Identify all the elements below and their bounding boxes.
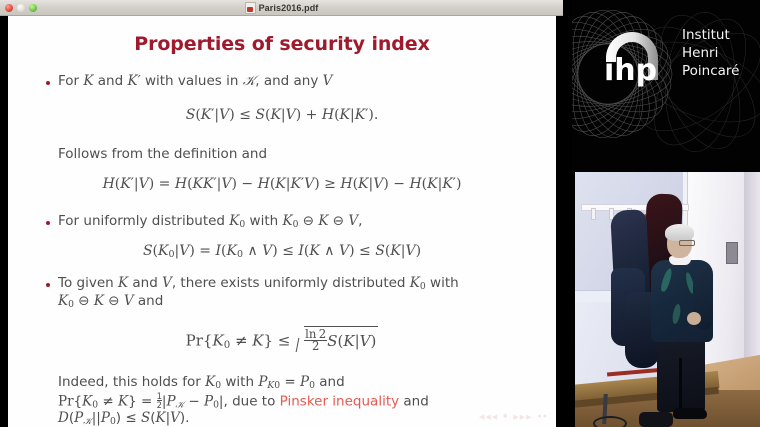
ihp-wordmark-text: ihp: [604, 53, 657, 88]
window-title: Paris2016.pdf: [259, 3, 319, 13]
video-bag: [639, 412, 673, 427]
nav-search-icon[interactable]: ●●: [538, 413, 548, 421]
window-title-group: Paris2016.pdf: [0, 0, 563, 15]
bullet-marker-1: [46, 81, 50, 85]
video-wall-plate: [726, 242, 738, 264]
ihp-institute-name: Institut Henri Poincaré: [682, 26, 739, 80]
logo-line-2: Henri: [682, 44, 739, 62]
logo-line-1: Institut: [682, 26, 739, 44]
bullet-3-lead-b: K0 ⊖ K ⊖ V and: [58, 293, 163, 311]
slide-page: Properties of security index For K and K…: [8, 16, 556, 427]
ihp-logo-icon: ihp: [590, 18, 678, 88]
bullet-3-equation: Pr{K0 ≠ K} ≤ ln 22S(K|V): [8, 326, 556, 353]
pdf-body: Properties of security index For K and K…: [0, 16, 563, 427]
video-speaker-leg-split: [679, 358, 682, 412]
bullet-1-lead: For K and K′ with values in 𝒦, and any V: [58, 73, 332, 91]
pdf-document-icon: [245, 2, 256, 14]
bullet-1-equation: S(K′|V) ≤ S(K|V) + H(K|K′).: [8, 107, 556, 123]
logo-line-3: Poincaré: [682, 62, 739, 80]
video-speaker-glasses: [679, 240, 695, 246]
video-cable: [593, 416, 627, 427]
window-titlebar[interactable]: Paris2016.pdf: [0, 0, 563, 16]
pinsker-inequality-highlight: Pinsker inequality: [280, 393, 399, 409]
bullet-marker-3: [46, 283, 50, 287]
bullet-1-follow-equation: H(K′|V) = H(KK′|V) − H(K|K′V) ≥ H(K|V) −…: [8, 176, 556, 192]
bullet-1-follow-text: Follows from the definition and: [58, 146, 267, 164]
page-title: Properties of security index: [8, 33, 556, 55]
bullet-2-lead: For uniformly distributed K0 with K0 ⊖ K…: [58, 213, 362, 231]
bullet-3-closing-b: Pr{K0 ≠ K} = 12|P𝒦 − P0|, due to Pinsker…: [58, 392, 429, 412]
page-left-gutter: [0, 16, 8, 427]
video-speaker-hair: [665, 224, 694, 241]
right-column: ihp Institut Henri Poincaré: [563, 0, 760, 427]
video-speaker-shoes: [673, 408, 707, 419]
video-door-frame: [744, 172, 760, 377]
bullet-2-equation: S(K0|V) = I(K0 ∧ V) ≤ I(K ∧ V) ≤ S(K|V): [8, 243, 556, 260]
bullet-3-closing-c: D(P𝒦||P0) ≤ S(K|V).: [58, 410, 189, 427]
nav-back-icon[interactable]: ◀◀◀: [479, 413, 498, 421]
screen-root: Paris2016.pdf Properties of security ind…: [0, 0, 760, 427]
bullet-marker-2: [46, 221, 50, 225]
ihp-logo-panel: ihp Institut Henri Poincaré: [572, 0, 760, 172]
bullet-3-closing-a: Indeed, this holds for K0 with PK0 = P0 …: [58, 374, 345, 392]
video-speaker-hands: [687, 312, 701, 325]
nav-forward-icon[interactable]: ▶▶▶: [513, 413, 532, 421]
bullet-3-lead-a: To given K and V, there exists uniformly…: [58, 275, 459, 293]
beamer-navigation-symbols[interactable]: ◀◀◀ ■ ▶▶▶ ●●: [479, 413, 548, 421]
nav-frame-icon[interactable]: ■: [503, 413, 508, 421]
video-coat-hook: [591, 208, 596, 220]
speaker-webcam-feed[interactable]: [575, 172, 760, 427]
pdf-viewer-window: Paris2016.pdf Properties of security ind…: [0, 0, 563, 427]
